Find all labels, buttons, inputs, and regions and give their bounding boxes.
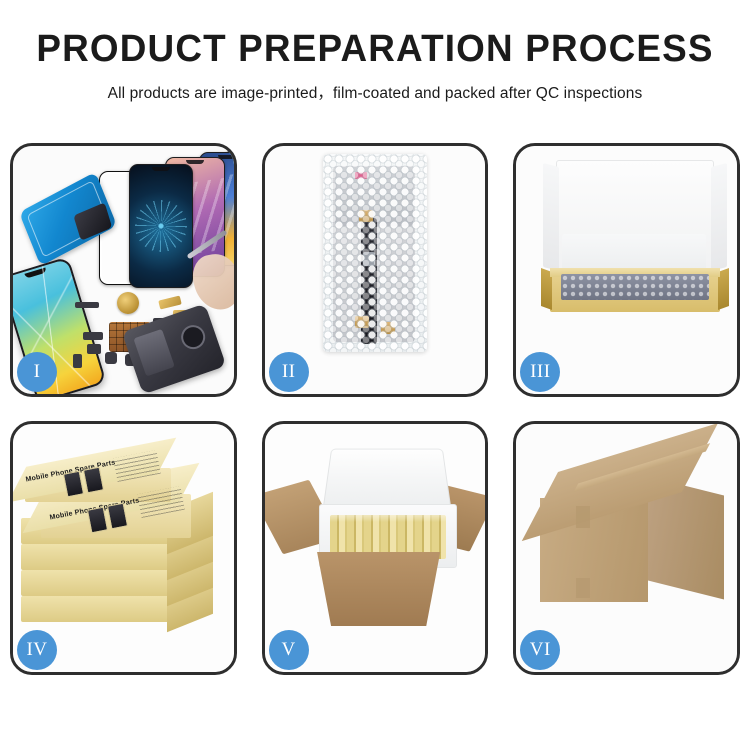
process-step-2[interactable]: II (262, 143, 489, 397)
process-step-1[interactable]: I (10, 143, 237, 397)
step-badge-4: IV (17, 630, 57, 670)
process-step-3[interactable]: III (513, 143, 740, 397)
small-module-part (87, 344, 101, 354)
button-part (105, 352, 117, 364)
process-step-6[interactable]: VI (513, 421, 740, 675)
stacked-box (21, 570, 171, 596)
step-badge-5: V (269, 630, 309, 670)
process-step-5[interactable]: V (262, 421, 489, 675)
bubble-texture-overlay (323, 154, 427, 352)
box-stack: Mobile Phone Spare Parts Mobile Phone Sp… (19, 446, 231, 626)
sim-tray-part (73, 354, 82, 368)
stacked-box (21, 596, 171, 622)
flex-cable-part (83, 332, 103, 340)
stacked-box (21, 544, 171, 570)
foam-lid (322, 449, 452, 512)
step-badge-1: I (17, 352, 57, 392)
carton-tape-lower (576, 578, 590, 598)
carton-tape-upper (576, 506, 590, 528)
cardboard-carton (309, 552, 449, 626)
kraft-tray (550, 268, 720, 312)
page-subtitle: All products are image-printed，film-coat… (0, 81, 750, 103)
page-title: PRODUCT PREPARATION PROCESS (11, 30, 739, 70)
sealed-carton (534, 450, 730, 610)
process-step-4[interactable]: Mobile Phone Spare Parts Mobile Phone Sp… (10, 421, 237, 675)
product-preparation-infographic: PRODUCT PREPARATION PROCESS All products… (0, 0, 750, 750)
header: PRODUCT PREPARATION PROCESS All products… (0, 0, 750, 103)
step-badge-2: II (269, 352, 309, 392)
bubble-wrap-pouch (323, 154, 427, 352)
phone-screen-blue-burst (129, 164, 193, 288)
speaker-coil-part (117, 292, 139, 314)
connector-part (75, 302, 99, 308)
bubble-wrapped-contents (561, 274, 709, 300)
process-step-grid: I II (10, 143, 740, 675)
